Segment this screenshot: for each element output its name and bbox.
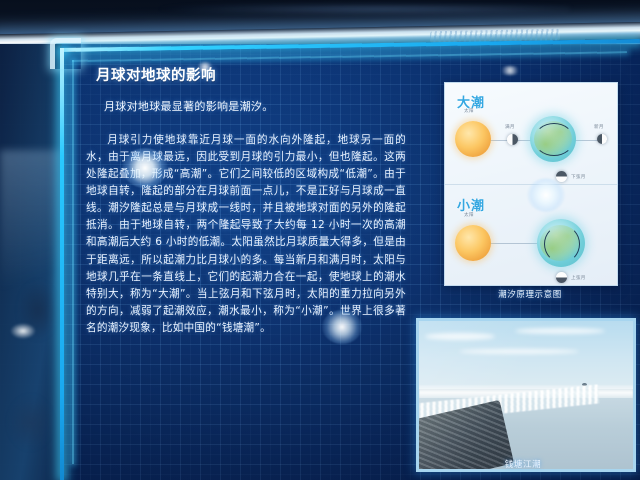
text-column: 月球对地球的影响 月球对地球最显著的影响是潮汐。 月球引力使地球靠近月球一面的水…	[86, 64, 406, 337]
pillar-smudge-lower	[8, 395, 53, 450]
photo-cloud	[515, 328, 605, 334]
spring-moon-new-label: 新月	[594, 124, 604, 130]
spring-moon-new-icon	[597, 134, 607, 144]
photo-caption: 钱塘江潮	[416, 458, 630, 470]
spring-moon-full-label: 满月	[505, 124, 515, 130]
neon-frame-left	[60, 48, 64, 480]
neap-moon-last-quarter-icon	[556, 171, 567, 182]
photo-cloud	[459, 349, 579, 354]
pillar-light-spot	[10, 323, 36, 339]
ceiling-gloss	[150, 4, 570, 14]
neap-sun-icon	[455, 225, 491, 261]
neap-sun-label: 太阳	[464, 212, 474, 218]
tide-diagram-card: 大潮 太阳 满月 新月 小潮 太阳 下弦月 上弦月	[444, 82, 618, 286]
neap-tidal-bulge-ring	[544, 225, 580, 263]
page-title: 月球对地球的影响	[96, 64, 406, 85]
neap-moon-first-quarter-icon	[556, 272, 567, 283]
spring-sun-label: 太阳	[464, 108, 474, 114]
neap-moon-first-quarter-label: 上弦月	[571, 275, 586, 281]
exhibit-display-photo: 月球对地球的影响 月球对地球最显著的影响是潮汐。 月球引力使地球靠近月球一面的水…	[0, 0, 640, 480]
neap-moon-last-quarter-label: 下弦月	[571, 174, 586, 180]
lead-paragraph: 月球对地球最显著的影响是潮汐。	[104, 99, 406, 116]
neon-frame-left-inner	[72, 60, 74, 464]
spring-tidal-bulge-ring	[534, 123, 574, 156]
diagram-caption: 潮汐原理示意图	[444, 288, 616, 300]
neon-corner-cap	[50, 38, 81, 69]
spring-moon-full-icon	[507, 134, 518, 145]
spring-sun-icon	[455, 121, 491, 157]
diagram-divider	[445, 184, 617, 185]
body-paragraph: 月球引力使地球靠近月球一面的水向外隆起，地球另一面的水，由于离月球最远，因此受到…	[86, 132, 406, 338]
photo-cloud	[425, 333, 495, 340]
qiantang-tide-photo	[416, 318, 636, 472]
